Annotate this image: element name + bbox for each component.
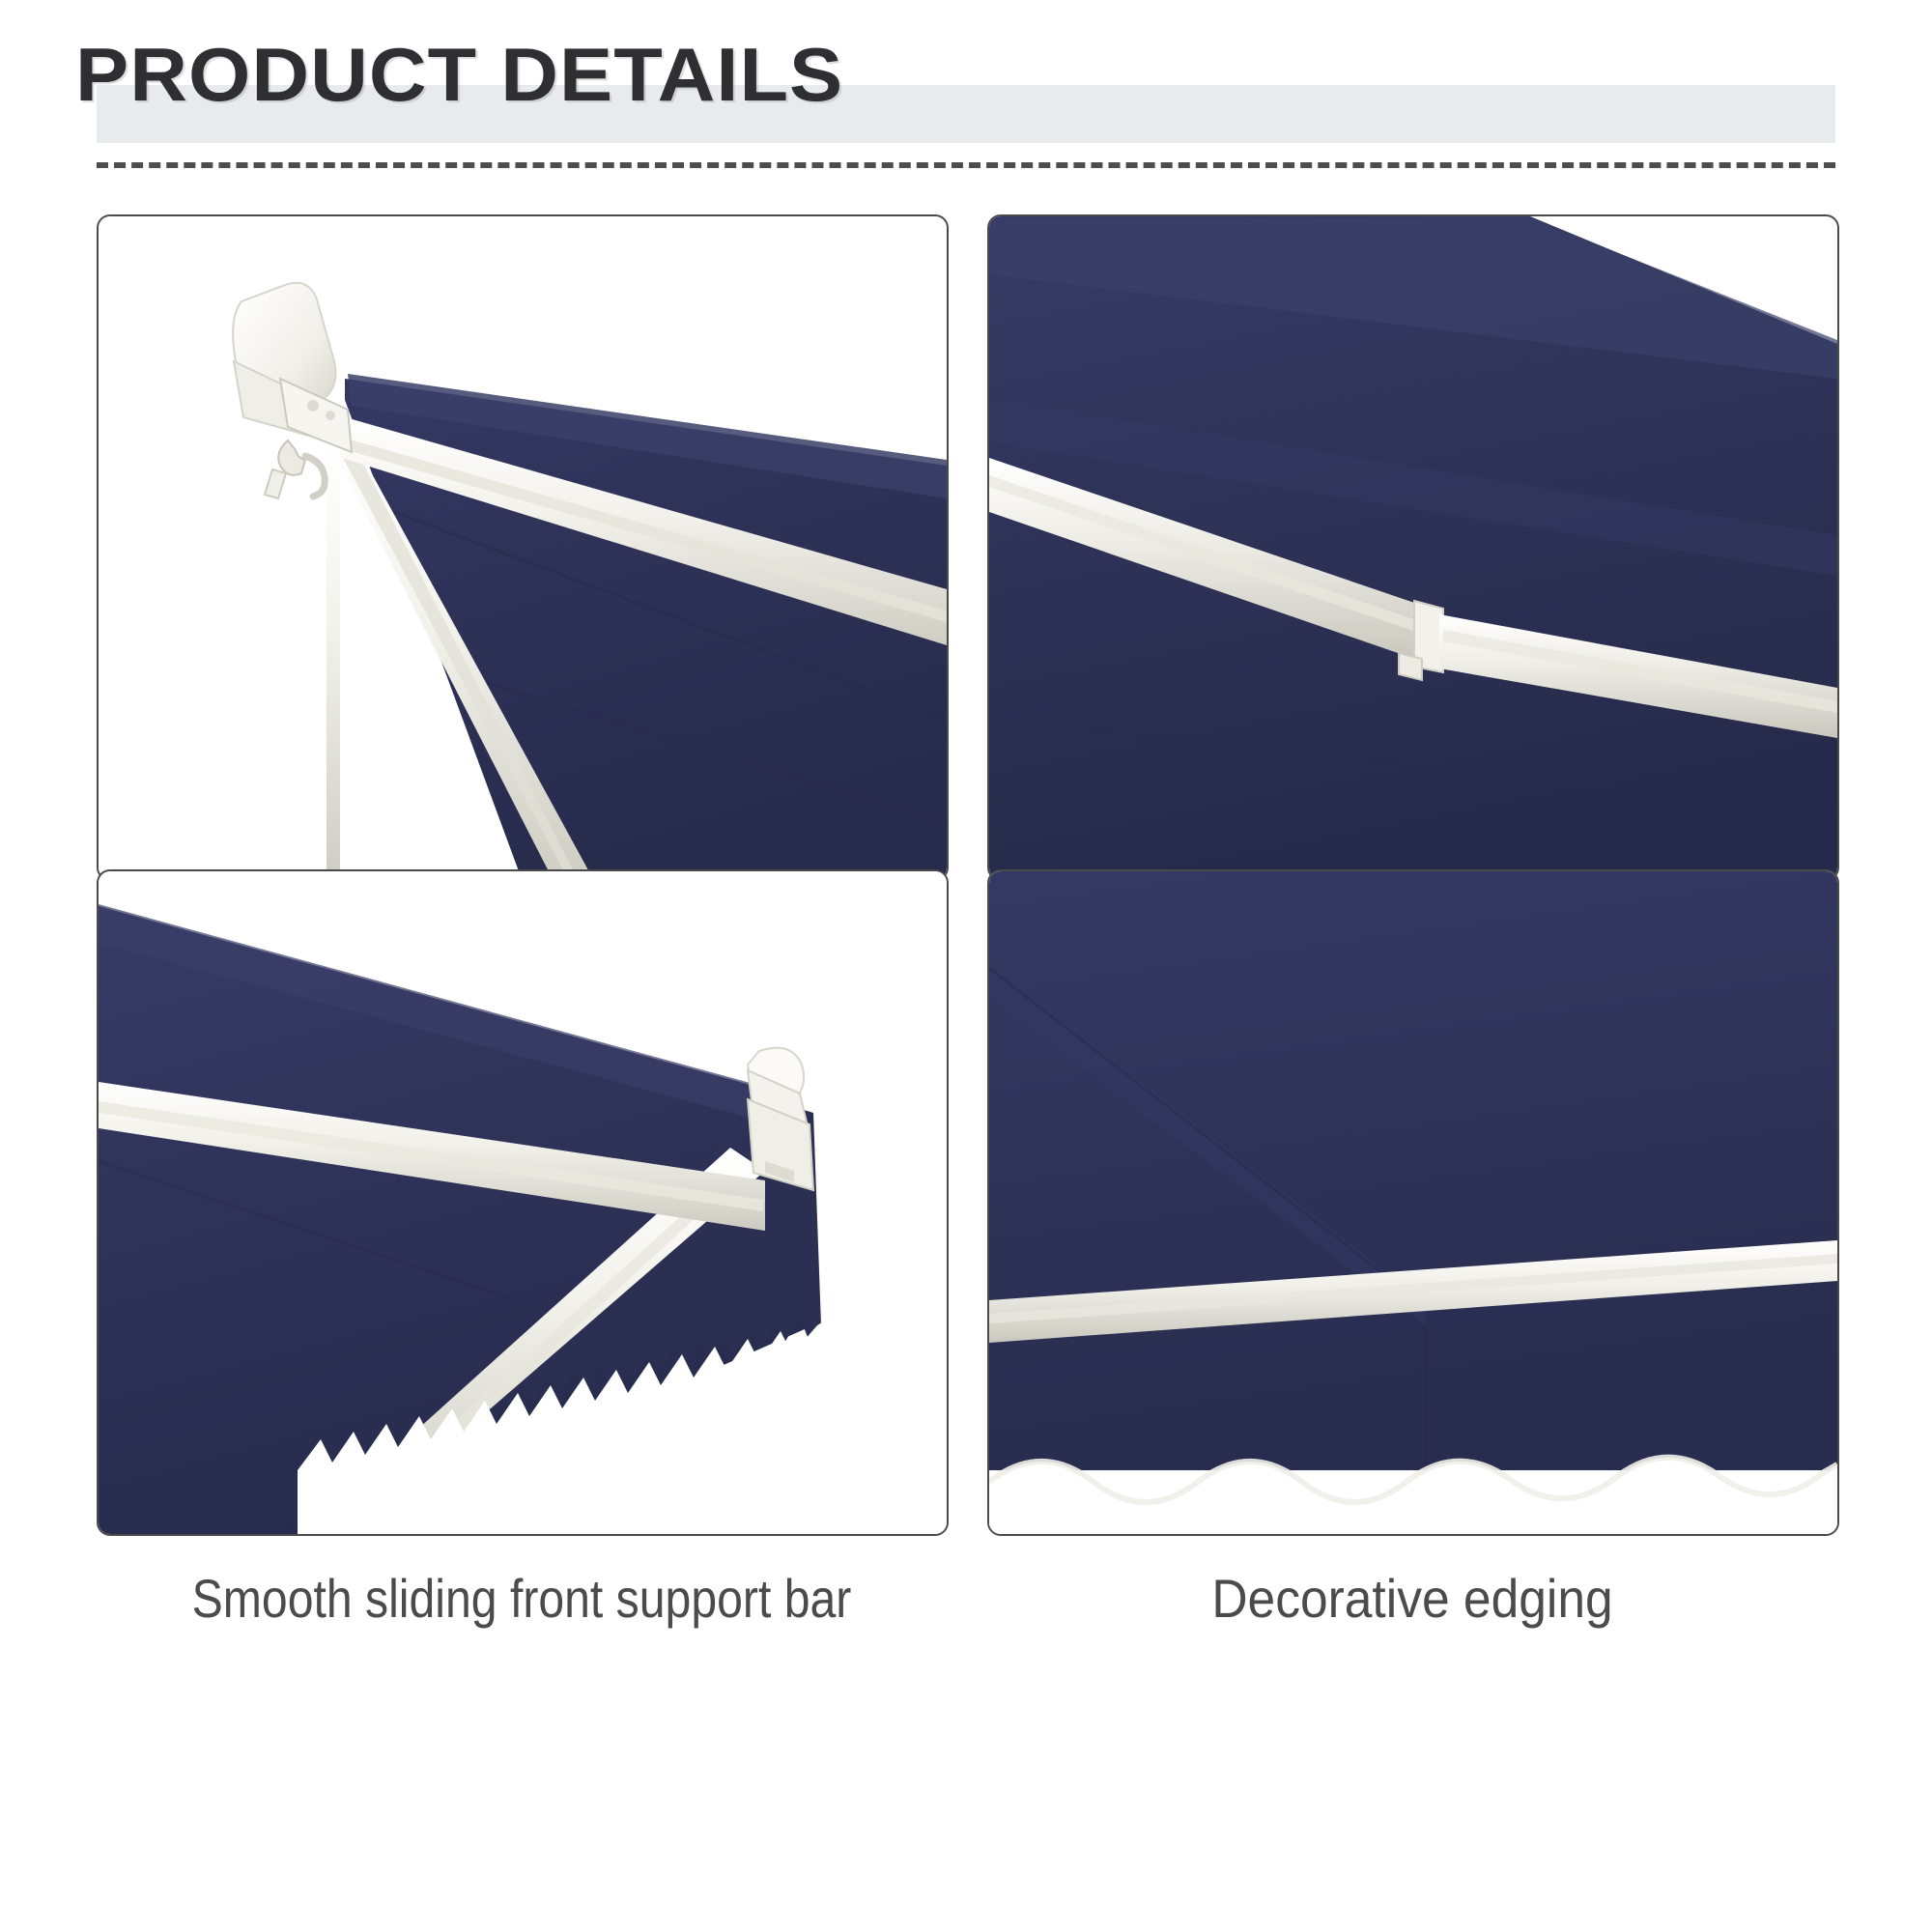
detail-cell-retractable-arms: Retractable arms	[987, 214, 1837, 974]
detail-caption-front-support-bar: Smooth sliding front support bar	[156, 1569, 888, 1629]
retractable-arm-joint-illustration	[989, 216, 1837, 879]
front-support-bar-illustration	[99, 871, 947, 1534]
product-details-grid: Solid aluminum brackets	[0, 193, 1932, 1932]
detail-image-front-support-bar	[97, 869, 949, 1536]
detail-image-solid-aluminum-brackets	[97, 214, 949, 881]
detail-caption-decorative-edging: Decorative edging	[1021, 1569, 1804, 1629]
detail-cell-solid-aluminum-brackets: Solid aluminum brackets	[97, 214, 947, 974]
page-title: PRODUCT DETAILS	[75, 35, 843, 114]
detail-cell-decorative-edging: Decorative edging	[987, 869, 1837, 1629]
detail-image-decorative-edging	[987, 869, 1839, 1536]
decorative-edging-illustration	[989, 871, 1837, 1534]
detail-image-retractable-arms	[987, 214, 1839, 881]
detail-cell-front-support-bar: Smooth sliding front support bar	[97, 869, 947, 1629]
header-dashed-divider	[97, 162, 1835, 168]
page-header: PRODUCT DETAILS	[0, 0, 1932, 193]
awning-bracket-illustration	[99, 216, 947, 879]
